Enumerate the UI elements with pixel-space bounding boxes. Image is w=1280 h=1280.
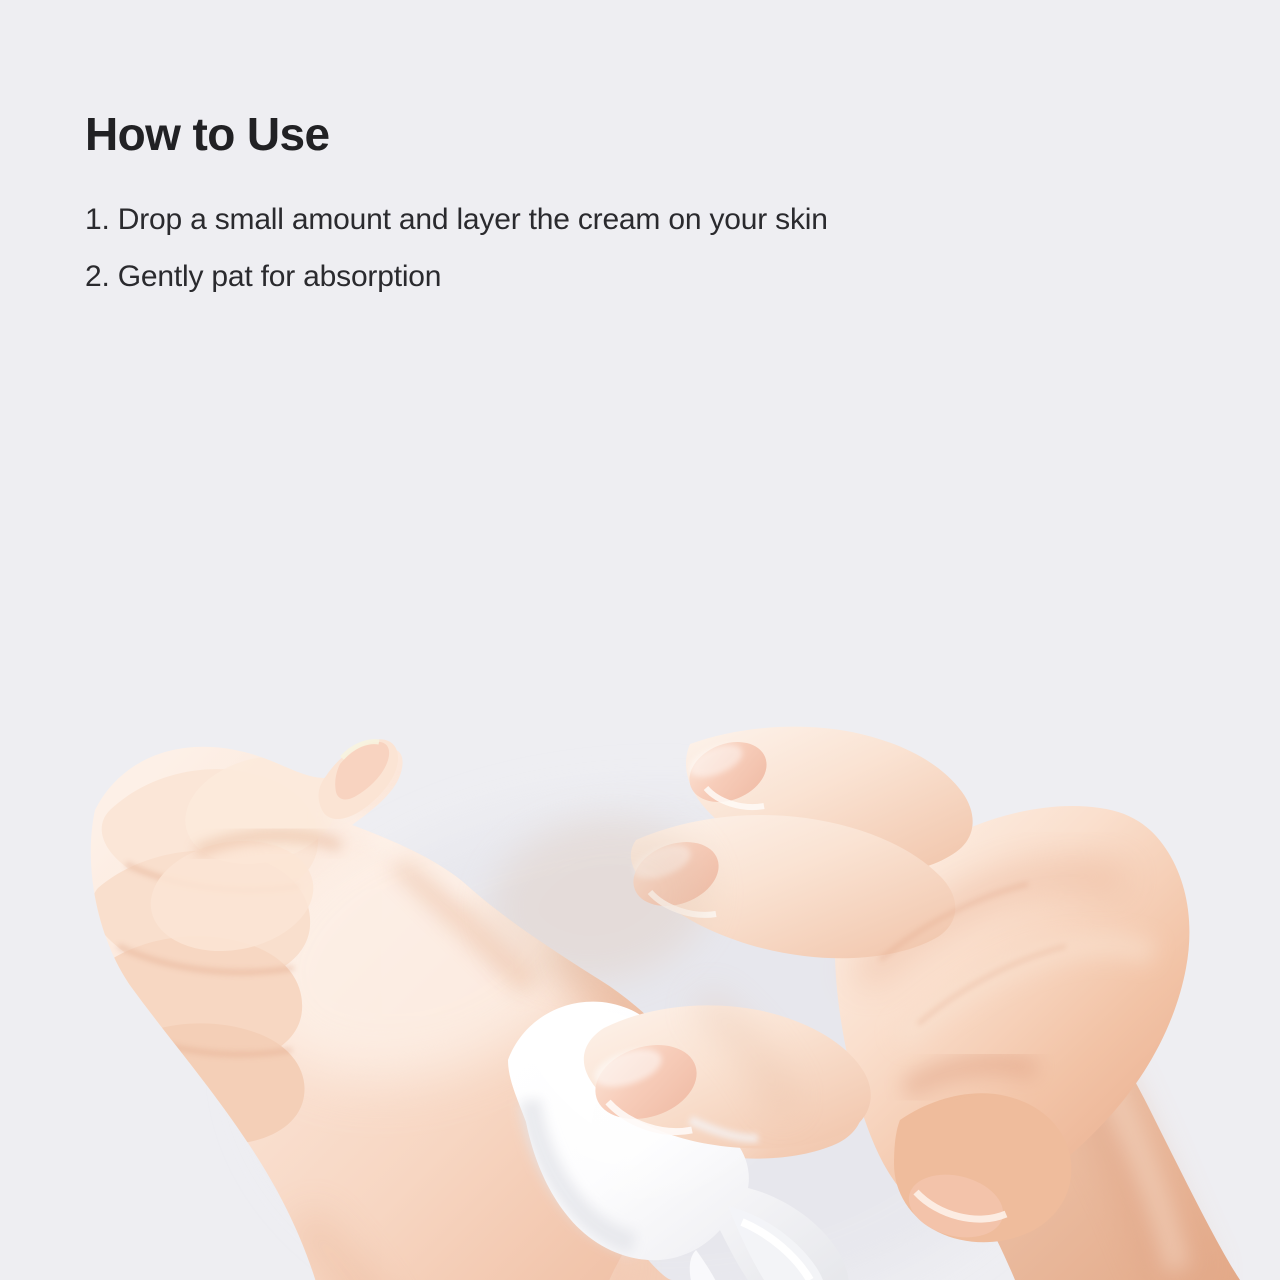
steps-list: 1. Drop a small amount and layer the cre… (85, 205, 1145, 292)
instructions-block: How to Use 1. Drop a small amount and la… (85, 108, 1145, 319)
list-item: 1. Drop a small amount and layer the cre… (85, 205, 1145, 235)
page-title: How to Use (85, 108, 1145, 161)
page-root: How to Use 1. Drop a small amount and la… (0, 0, 1280, 1280)
hands-illustration (0, 340, 1280, 1280)
how-to-use-photo (0, 340, 1280, 1280)
list-item: 2. Gently pat for absorption (85, 262, 1145, 292)
